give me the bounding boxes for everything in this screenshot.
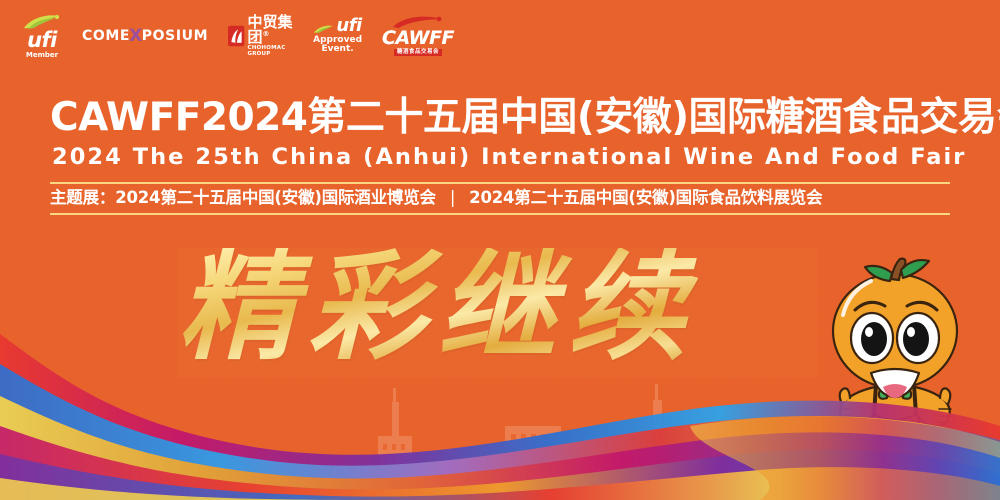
logo-zhongmao-group: 中贸集团® CHOHOMAC GROUP (228, 8, 293, 64)
logo-cawff: CAWFF 糖酒食品交易会 (382, 8, 454, 64)
comexposium-x-icon: X (129, 26, 143, 46)
page-title-english: 2024 The 25th China (Anhui) Internationa… (52, 146, 958, 169)
logo-comexposium: COMEXPOSIUM (82, 8, 208, 64)
theme-item-2: 2024第二十五届中国(安徽)国际食品饮料展览会 (469, 188, 822, 207)
event-banner: ufi Member COMEXPOSIUM 中贸集团® CHOHOMAC GR… (0, 0, 1000, 500)
cawff-wordmark: CAWFF (382, 29, 454, 48)
zhongmao-en-name: CHOHOMAC GROUP (248, 46, 294, 57)
cawff-cn-label: 糖酒食品交易会 (394, 49, 442, 57)
comexposium-post: POSIUM (142, 28, 208, 44)
logo-ufi-approved-event: ufi Approved Event. (313, 8, 362, 64)
registered-icon: ® (263, 30, 270, 38)
divider-bottom (50, 213, 950, 215)
sponsor-logo-bar: ufi Member COMEXPOSIUM 中贸集团® CHOHOMAC GR… (22, 8, 442, 64)
ufi-wordmark: ufi (336, 17, 361, 36)
theme-label: 主题展： (50, 188, 115, 207)
zhongmao-cn-name: 中贸集团® (248, 15, 294, 45)
zhongmao-mark-icon (228, 21, 244, 51)
logo-ufi-member: ufi Member (22, 8, 62, 64)
ufi-wing-icon (313, 23, 335, 36)
color-wave-ribbon (0, 330, 1000, 500)
ufi-member-label: Member (26, 52, 58, 59)
theme-exhibitions: 主题展：2024第二十五届中国(安徽)国际酒业博览会|2024第二十五届中国(安… (50, 186, 954, 210)
divider-top (50, 182, 950, 184)
ufi-approved-line2: Event. (321, 45, 353, 54)
ufi-wordmark: ufi (27, 30, 57, 51)
page-title: CAWFF2024第二十五届中国(安徽)国际糖酒食品交易会 (50, 98, 960, 137)
theme-item-1: 2024第二十五届中国(安徽)国际酒业博览会 (115, 188, 436, 207)
theme-separator: | (450, 188, 455, 207)
comexposium-pre: COME (82, 28, 130, 44)
